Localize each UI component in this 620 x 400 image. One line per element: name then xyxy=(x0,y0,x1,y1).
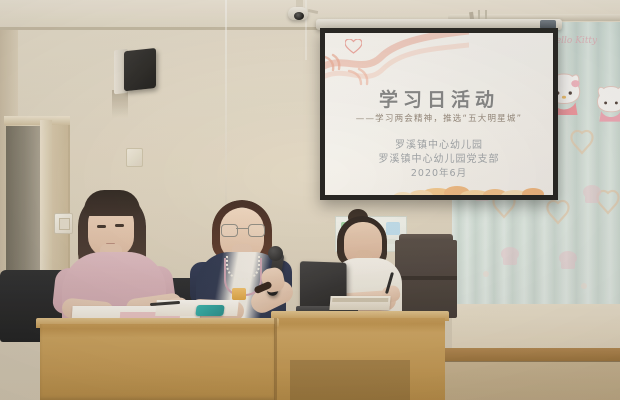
heart-icon xyxy=(345,39,362,54)
desk-front[interactable] xyxy=(40,324,275,400)
meeting-room-photo: Hello Kitty 学习日活动 ——学习两会精神，推选“五大明星城” 罗溪 xyxy=(0,0,620,400)
glasses-lens-left xyxy=(221,224,238,237)
kitty-character-icon xyxy=(594,80,620,124)
slide-subtitle: ——学习两会精神，推选“五大明星城” xyxy=(325,112,553,124)
microphone-head-icon xyxy=(268,246,283,261)
glasses-lens-right xyxy=(248,224,265,237)
wall-outlet xyxy=(126,148,143,167)
slide-org-line-2: 罗溪镇中心幼儿园党支部 xyxy=(325,153,553,167)
slide-organization: 罗溪镇中心幼儿园 罗溪镇中心幼儿园党支部 2020年6月 xyxy=(325,139,553,181)
open-notebook[interactable] xyxy=(329,296,390,310)
speaker-grille-icon xyxy=(124,48,156,91)
light-switch[interactable] xyxy=(54,213,73,234)
wainscot-panel xyxy=(452,300,620,352)
projector-screen-frame: 学习日活动 ——学习两会精神，推选“五大明星城” 罗溪镇中心幼儿园 罗溪镇中心幼… xyxy=(320,28,558,200)
camera-lens-icon xyxy=(294,12,304,20)
notebook-line xyxy=(332,298,388,302)
badge xyxy=(232,288,246,300)
poster-swatch-icon xyxy=(386,222,400,235)
glasses-icon xyxy=(221,224,263,235)
hair-top xyxy=(84,190,140,216)
slide-org-line-1: 罗溪镇中心幼儿园 xyxy=(325,139,553,153)
desk-seam xyxy=(274,318,277,400)
slide-title: 学习日活动 xyxy=(325,85,553,112)
floor xyxy=(430,358,620,400)
baseboard-trim xyxy=(430,348,620,361)
eye-right xyxy=(115,224,124,227)
ribbon-decoration-icon xyxy=(325,33,469,91)
teal-smartphone[interactable] xyxy=(195,305,225,316)
wall-speaker xyxy=(114,46,158,95)
glasses-bridge xyxy=(236,228,248,229)
cabinet-divider xyxy=(395,276,457,280)
eye-left xyxy=(97,225,106,228)
door-header xyxy=(4,116,70,125)
projected-slide[interactable]: 学习日活动 ——学习两会精神，推选“五大明星城” 罗溪镇中心幼儿园 罗溪镇中心幼… xyxy=(325,33,553,195)
slide-date: 2020年6月 xyxy=(325,167,553,181)
desk-shadow xyxy=(290,360,410,400)
switch-rocker-icon[interactable] xyxy=(59,218,70,230)
